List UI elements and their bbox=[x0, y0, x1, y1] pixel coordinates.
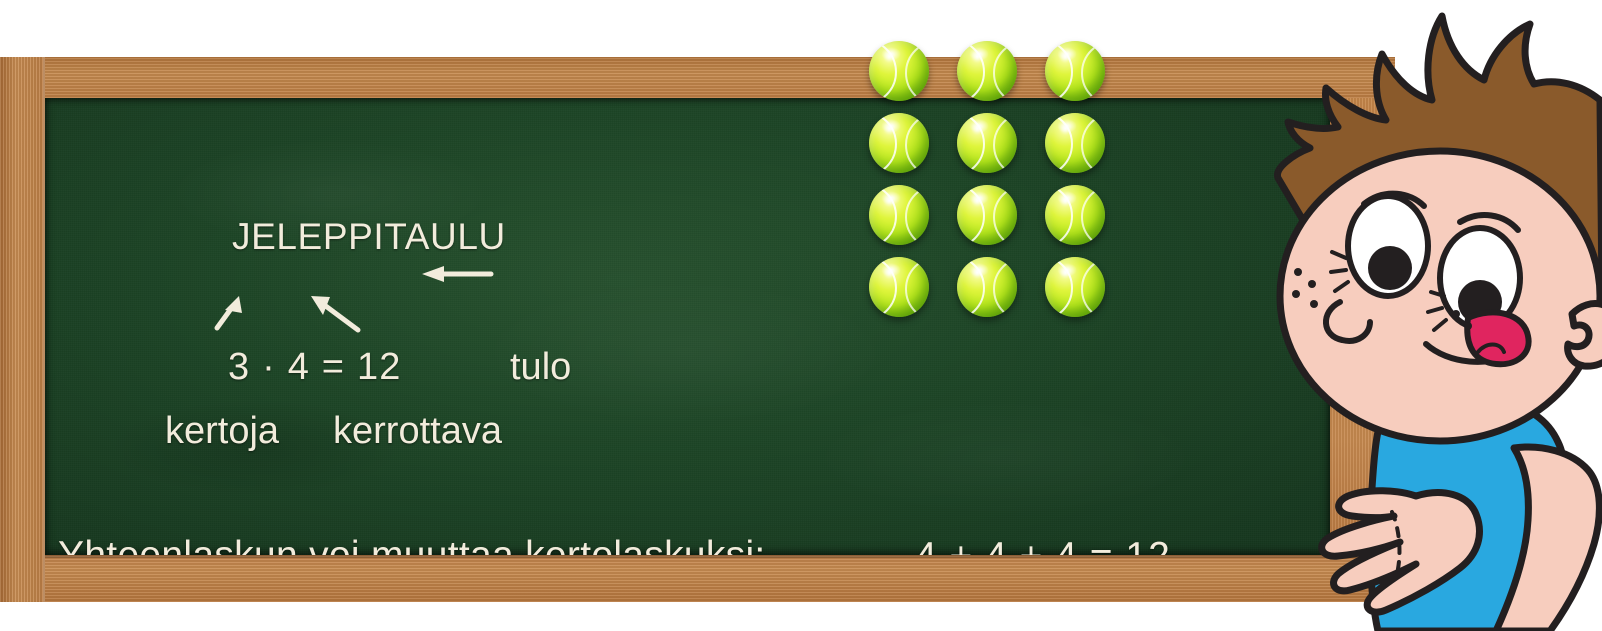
addition-equation: 4 + 4 + 4 = 12 bbox=[915, 535, 1171, 555]
boy-tongue bbox=[1467, 312, 1528, 364]
chalk-smudge bbox=[805, 398, 1205, 518]
main-equation: 3 · 4 = 12 bbox=[228, 346, 402, 389]
ball-gloss bbox=[969, 263, 989, 277]
frame-top-rail bbox=[45, 57, 1395, 98]
tennis-ball-icon bbox=[957, 113, 1017, 173]
tennis-ball-icon bbox=[1045, 41, 1105, 101]
tennis-ball-grid bbox=[855, 35, 1125, 335]
arrow-to-multiplier-icon bbox=[217, 296, 242, 328]
ball-gloss bbox=[969, 47, 989, 61]
frame-bottom-rail bbox=[45, 555, 1395, 602]
board-title: JELEPPITAULU bbox=[232, 216, 506, 258]
tennis-ball-icon bbox=[957, 257, 1017, 317]
label-multiplier: kertoja bbox=[165, 410, 279, 453]
ball-gloss bbox=[1057, 263, 1077, 277]
tennis-ball-icon bbox=[1045, 185, 1105, 245]
chalkboard-slide: JELEPPITAULU 3 · 4 = 12 tulo kertoja ker… bbox=[0, 0, 1602, 631]
tennis-ball-icon bbox=[869, 41, 929, 101]
tennis-ball-icon bbox=[957, 41, 1017, 101]
label-product: tulo bbox=[510, 346, 571, 389]
boy-pupil-left bbox=[1368, 246, 1412, 290]
ball-gloss bbox=[881, 263, 901, 277]
ball-gloss bbox=[1057, 191, 1077, 205]
chalkboard-surface: JELEPPITAULU 3 · 4 = 12 tulo kertoja ker… bbox=[45, 98, 1330, 555]
ball-gloss bbox=[881, 119, 901, 133]
ball-gloss bbox=[1057, 119, 1077, 133]
tennis-ball-icon bbox=[1045, 113, 1105, 173]
tennis-ball-icon bbox=[1045, 257, 1105, 317]
tennis-ball-icon bbox=[869, 185, 929, 245]
ball-gloss bbox=[881, 191, 901, 205]
arrow-to-product-icon bbox=[422, 266, 491, 282]
explanation-sentence: Yhteenlaskun voi muuttaa kertolaskuksi: bbox=[58, 534, 766, 555]
ball-gloss bbox=[881, 47, 901, 61]
cartoon-boy-illustration bbox=[1228, 0, 1602, 631]
ball-gloss bbox=[969, 191, 989, 205]
tennis-ball-icon bbox=[869, 113, 929, 173]
arrow-layer bbox=[45, 98, 1330, 555]
ball-gloss bbox=[969, 119, 989, 133]
ball-gloss bbox=[1057, 47, 1077, 61]
frame-left-stile bbox=[0, 57, 45, 602]
label-multiplicand: kerrottava bbox=[333, 410, 502, 453]
arrow-to-multiplicand-icon bbox=[311, 296, 358, 330]
tennis-ball-icon bbox=[869, 257, 929, 317]
tennis-ball-icon bbox=[957, 185, 1017, 245]
